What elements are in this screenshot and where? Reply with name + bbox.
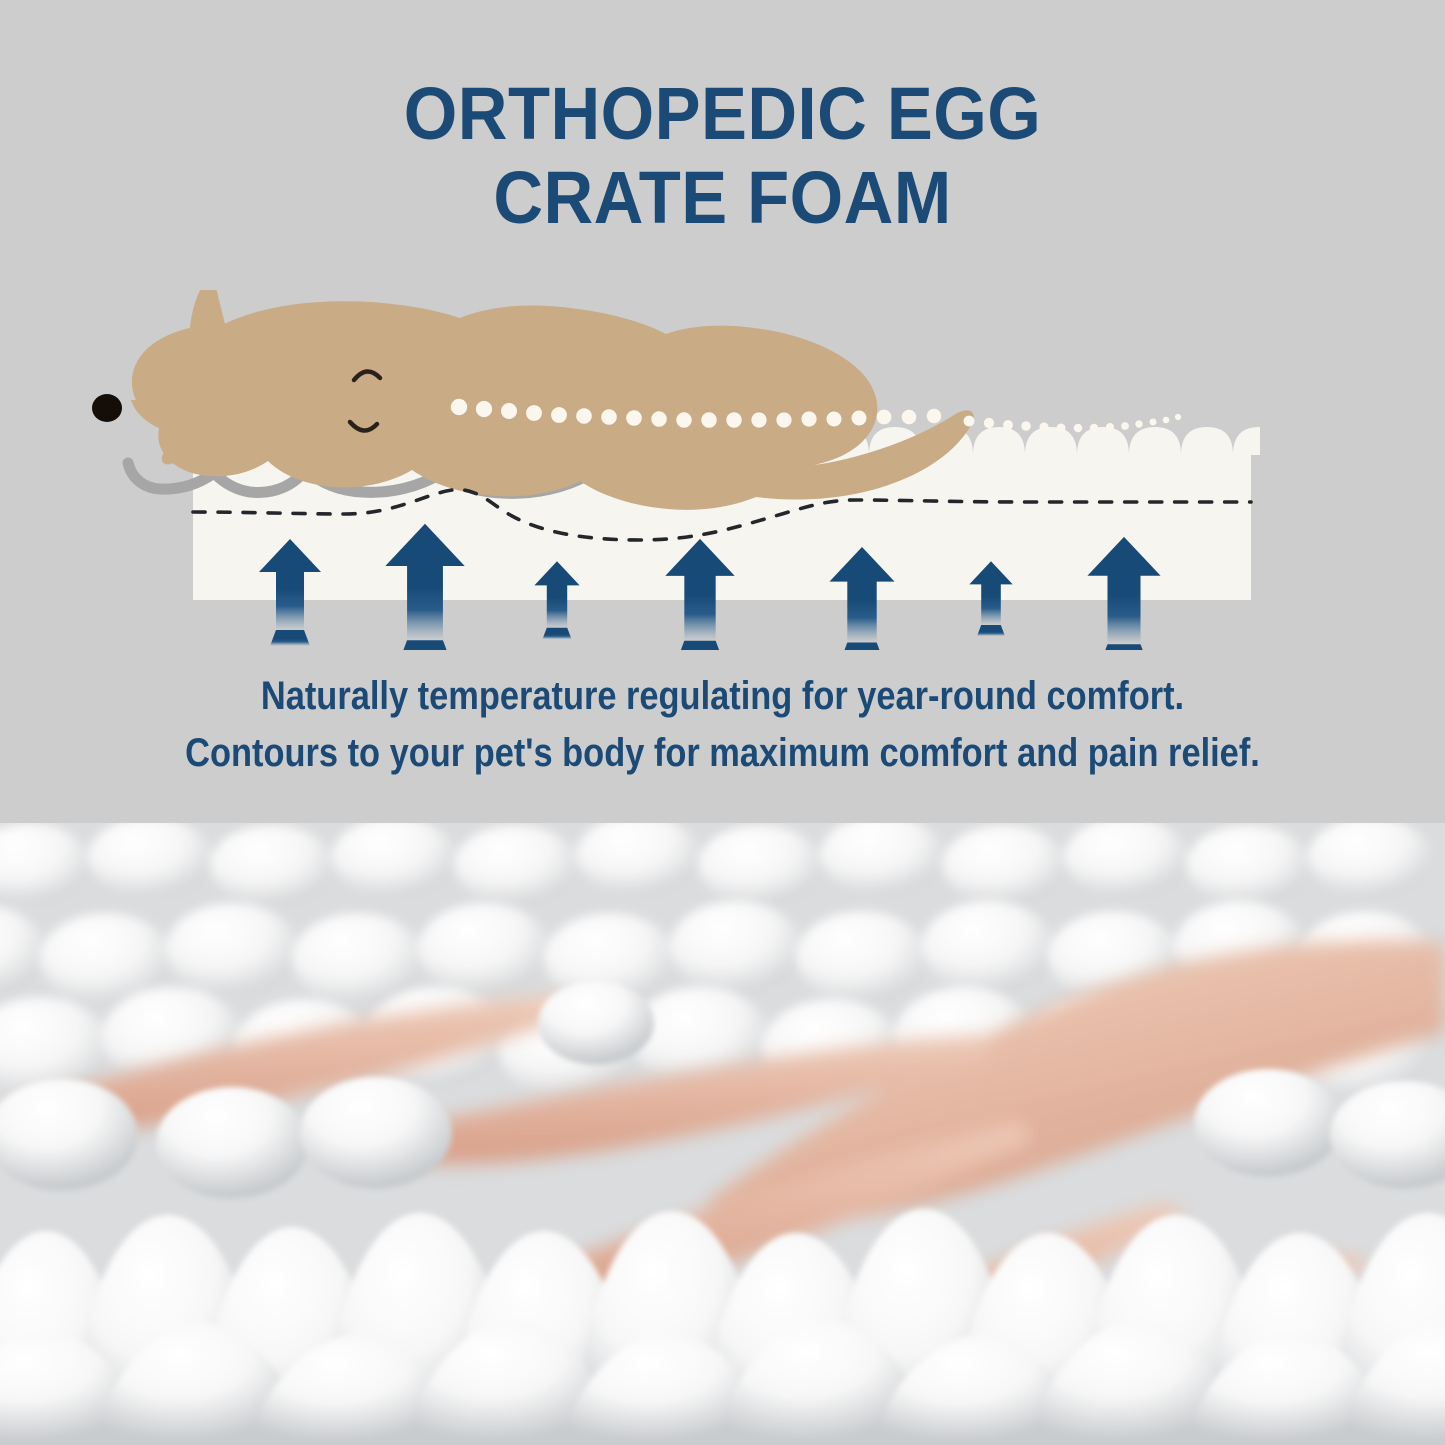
dog-nose-icon [92,394,122,422]
feature-caption: Naturally temperature regulating for yea… [101,668,1344,782]
foam-photo [0,823,1445,1445]
caption-line-1: Naturally temperature regulating for yea… [101,668,1344,725]
title-line-2: CRATE FOAM [51,156,1395,240]
foam-photo-svg [0,823,1445,1445]
title-line-1: ORTHOPEDIC EGG [51,72,1395,156]
infographic-panel: ORTHOPEDIC EGG CRATE FOAM [0,0,1445,823]
caption-line-2: Contours to your pet's body for maximum … [101,725,1344,782]
product-feature-image: ORTHOPEDIC EGG CRATE FOAM [0,0,1445,1445]
page-title: ORTHOPEDIC EGG CRATE FOAM [51,72,1395,240]
illustration-svg [0,290,1445,650]
dog-on-foam-illustration [0,290,1445,650]
